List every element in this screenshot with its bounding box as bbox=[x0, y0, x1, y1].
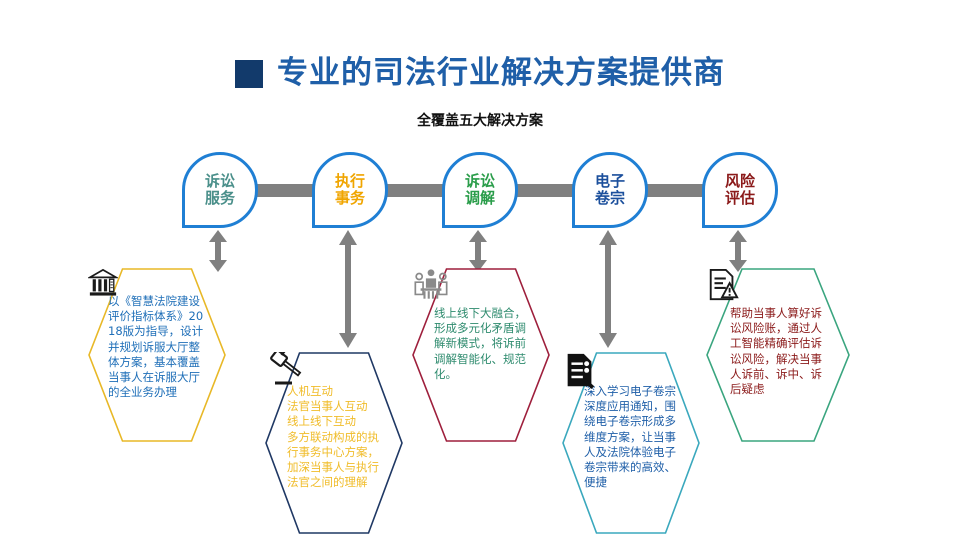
title-marker-square bbox=[235, 60, 263, 88]
card-text: 人机互动 法官当事人互动 线上线下互动 多方联动构成的执行事务中心方案，加深当事… bbox=[287, 384, 383, 490]
card-electronic-file[interactable]: 深入学习电子卷宗深度应用通知，围绕电子卷宗形成多维度方案，让当事人及法院体验电子… bbox=[562, 352, 700, 534]
flow-node-label: 诉讼 服务 bbox=[205, 173, 235, 207]
page-subtitle: 全覆盖五大解决方案 bbox=[0, 110, 960, 130]
arrow-down-up-mediation bbox=[467, 230, 489, 272]
page-title: 专业的司法行业解决方案提供商 bbox=[0, 58, 960, 89]
flow-node-mediation[interactable]: 诉讼 调解 bbox=[442, 152, 518, 228]
card-text: 以《智慧法院建设评价指标体系》2018版为指导，设计并规划诉服大厅整体方案，基本… bbox=[108, 294, 206, 400]
card-enforcement[interactable]: 人机互动 法官当事人互动 线上线下互动 多方联动构成的执行事务中心方案，加深当事… bbox=[265, 352, 403, 534]
title-text: 专业的司法行业解决方案提供商 bbox=[277, 58, 725, 89]
card-litigation-service[interactable]: 以《智慧法院建设评价指标体系》2018版为指导，设计并规划诉服大厅整体方案，基本… bbox=[88, 268, 226, 442]
arrow-down-up-enforcement bbox=[337, 230, 359, 348]
flow-node-litigation-service[interactable]: 诉讼 服务 bbox=[182, 152, 258, 228]
card-risk-assessment[interactable]: 帮助当事人算好诉讼风险账，通过人工智能精确评估诉讼风险，解决当事人诉前、诉中、诉… bbox=[706, 268, 850, 442]
arrow-down-up-risk-assessment bbox=[727, 230, 749, 272]
flow-node-label: 风险 评估 bbox=[725, 173, 755, 207]
flow-node-enforcement[interactable]: 执行 事务 bbox=[312, 152, 388, 228]
card-text: 线上线下大融合，形成多元化矛盾调解新模式，将诉前调解智能化、规范化。 bbox=[434, 306, 528, 382]
card-text: 深入学习电子卷宗深度应用通知，围绕电子卷宗形成多维度方案，让当事人及法院体验电子… bbox=[584, 384, 680, 490]
flow-node-electronic-file[interactable]: 电子 卷宗 bbox=[572, 152, 648, 228]
flow-node-label: 电子 卷宗 bbox=[595, 173, 625, 207]
flow-node-label: 执行 事务 bbox=[335, 173, 365, 207]
flow-node-risk-assessment[interactable]: 风险 评估 bbox=[702, 152, 778, 228]
slide-canvas: 专业的司法行业解决方案提供商 全覆盖五大解决方案 诉讼 服务 执行 事务 诉讼 … bbox=[0, 0, 960, 540]
flow-node-label: 诉讼 调解 bbox=[465, 173, 495, 207]
arrow-down-up-electronic-file bbox=[597, 230, 619, 348]
arrow-down-up-litigation-service bbox=[207, 230, 229, 272]
card-mediation[interactable]: 线上线下大融合，形成多元化矛盾调解新模式，将诉前调解智能化、规范化。 bbox=[412, 268, 550, 442]
card-text: 帮助当事人算好诉讼风险账，通过人工智能精确评估诉讼风险，解决当事人诉前、诉中、诉… bbox=[730, 306, 828, 397]
